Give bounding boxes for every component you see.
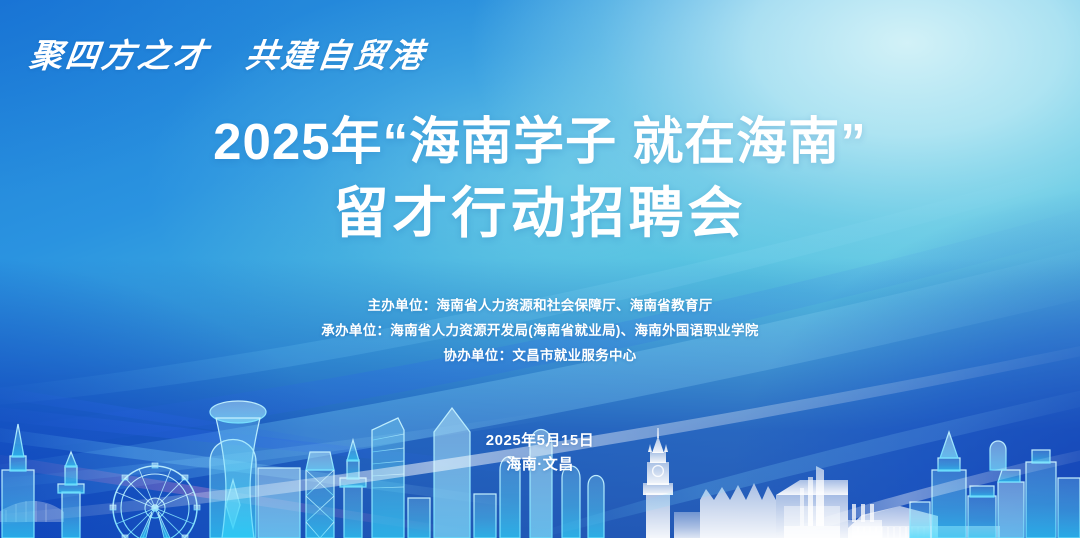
title-line-2: 留才行动招聘会 <box>0 181 1080 246</box>
organizer-host: 主办单位：海南省人力资源和社会保障厅、海南省教育厅 <box>0 293 1080 318</box>
event-details: 2025年5月15日 海南·文昌 <box>0 429 1080 477</box>
event-location: 海南·文昌 <box>0 453 1080 477</box>
page-title: 2025年“海南学子 就在海南” 留才行动招聘会 <box>0 112 1080 246</box>
title-line-1: 2025年“海南学子 就在海南” <box>0 112 1080 172</box>
organizer-undertaker: 承办单位：海南省人力资源开发局(海南省就业局)、海南外国语职业学院 <box>0 318 1080 343</box>
organizer-list: 主办单位：海南省人力资源和社会保障厅、海南省教育厅 承办单位：海南省人力资源开发… <box>0 293 1080 368</box>
organizer-coorganizer: 协办单位：文昌市就业服务中心 <box>0 343 1080 368</box>
event-date: 2025年5月15日 <box>0 429 1080 453</box>
event-poster: 聚四方之才 共建自贸港 2025年“海南学子 就在海南” 留才行动招聘会 主办单… <box>0 0 1080 538</box>
slogan-calligraphy: 聚四方之才 共建自贸港 <box>27 29 429 77</box>
